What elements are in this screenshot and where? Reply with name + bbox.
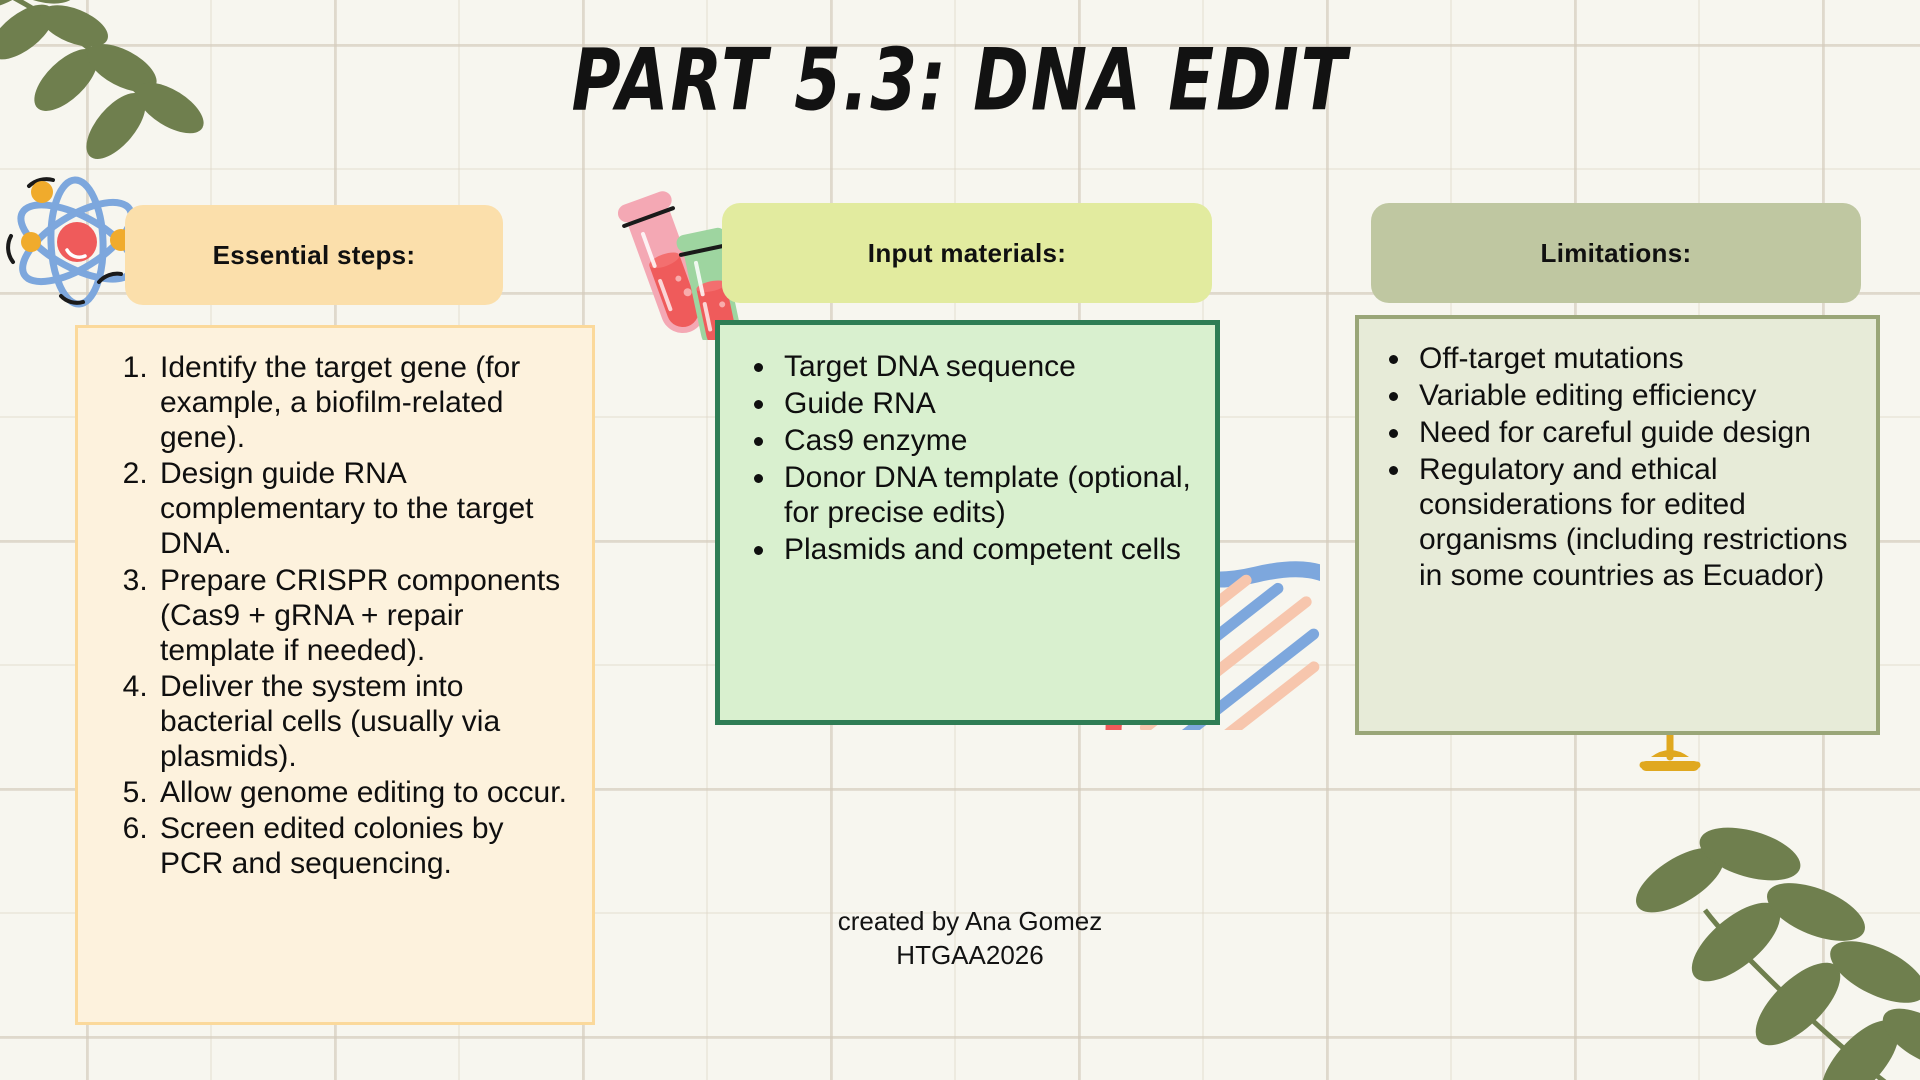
- limitations-list: Off-target mutations Variable editing ef…: [1359, 319, 1876, 593]
- list-item: Deliver the system into bacterial cells …: [156, 669, 572, 774]
- list-item: Variable editing efficiency: [1413, 378, 1856, 413]
- card-limitations: Off-target mutations Variable editing ef…: [1355, 315, 1880, 735]
- list-item: Allow genome editing to occur.: [156, 775, 572, 810]
- list-item: Cas9 enzyme: [778, 423, 1197, 458]
- card-input-materials: Target DNA sequence Guide RNA Cas9 enzym…: [715, 320, 1220, 725]
- list-item: Screen edited colonies by PCR and sequen…: [156, 811, 572, 881]
- essential-steps-list: Identify the target gene (for example, a…: [78, 328, 592, 881]
- credit-course: HTGAA2026: [715, 939, 1225, 973]
- input-materials-list: Target DNA sequence Guide RNA Cas9 enzym…: [720, 325, 1215, 568]
- column-heading-input-materials: Input materials:: [722, 203, 1212, 303]
- leaf-branch-bottom-right-icon: [1510, 790, 1920, 1080]
- list-item: Need for careful guide design: [1413, 415, 1856, 450]
- slide-canvas: PART 5.3: DNA EDIT: [0, 0, 1920, 1080]
- list-item: Donor DNA template (optional, for precis…: [778, 460, 1197, 530]
- card-essential-steps: Identify the target gene (for example, a…: [75, 325, 595, 1025]
- column-heading-limitations: Limitations:: [1371, 203, 1861, 303]
- credit-author: created by Ana Gomez: [715, 905, 1225, 939]
- credit-block: created by Ana Gomez HTGAA2026: [715, 905, 1225, 973]
- heading-label: Limitations:: [1541, 238, 1692, 269]
- list-item: Target DNA sequence: [778, 349, 1197, 384]
- page-title: PART 5.3: DNA EDIT: [38, 30, 1881, 130]
- list-item: Regulatory and ethical considerations fo…: [1413, 452, 1856, 592]
- column-heading-essential-steps: Essential steps:: [125, 205, 503, 305]
- list-item: Identify the target gene (for example, a…: [156, 350, 572, 455]
- list-item: Off-target mutations: [1413, 341, 1856, 376]
- list-item: Plasmids and competent cells: [778, 532, 1197, 567]
- heading-label: Input materials:: [868, 238, 1066, 269]
- list-item: Prepare CRISPR components (Cas9 + gRNA +…: [156, 563, 572, 668]
- list-item: Guide RNA: [778, 386, 1197, 421]
- list-item: Design guide RNA complementary to the ta…: [156, 456, 572, 561]
- heading-label: Essential steps:: [213, 240, 416, 271]
